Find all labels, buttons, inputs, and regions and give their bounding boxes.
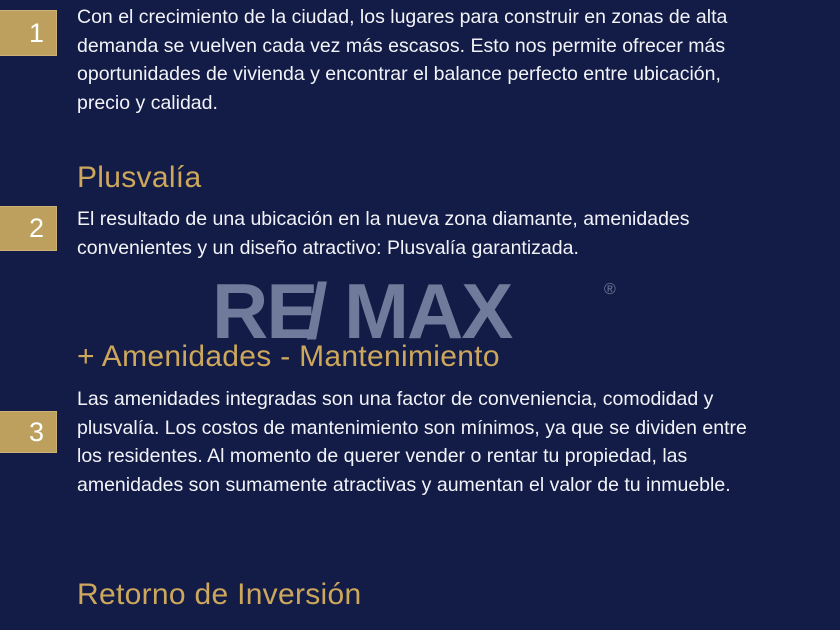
- section-number-badge-1: 1: [0, 10, 57, 56]
- slide-canvas: RE / MAX ® 1 Con el crecimiento de la ci…: [0, 0, 840, 630]
- section-heading-retorno-de-inversion: Retorno de Inversión: [77, 578, 362, 612]
- section-number-badge-2: 2: [0, 206, 57, 251]
- section-body-2: El resultado de una ubicación en la nuev…: [77, 205, 697, 262]
- section-body-1: Con el crecimiento de la ciudad, los lug…: [77, 3, 777, 117]
- section-number-badge-3: 3: [0, 411, 57, 453]
- slide-content: 1 Con el crecimiento de la ciudad, los l…: [0, 0, 840, 630]
- section-body-3: Las amenidades integradas son una factor…: [77, 385, 767, 499]
- section-heading-plusvalia: Plusvalía: [77, 161, 201, 195]
- section-heading-amenidades: + Amenidades - Mantenimiento: [77, 340, 500, 374]
